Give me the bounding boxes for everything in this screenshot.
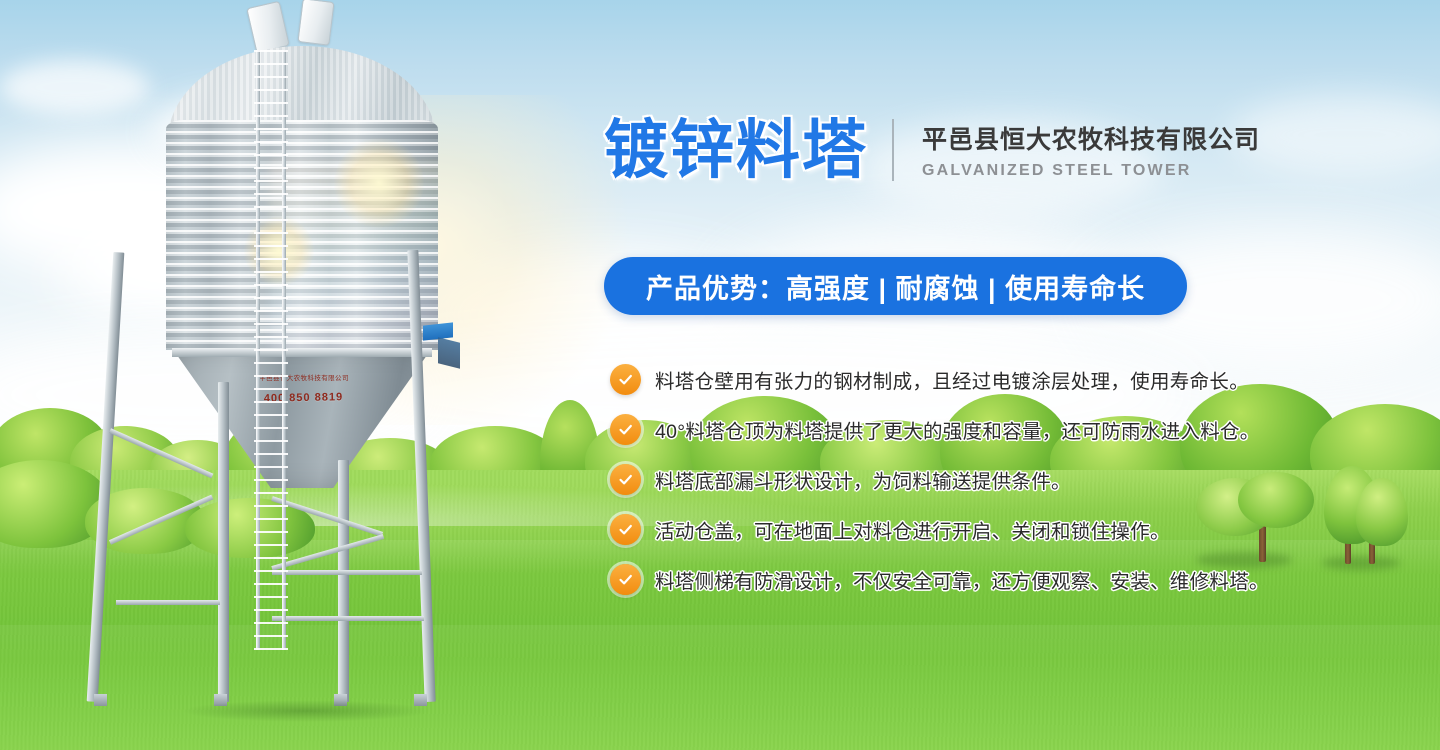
feature-item: 料塔仓壁用有张力的钢材制成，且经过电镀涂层处理，使用寿命长。 — [610, 358, 1269, 400]
check-circle-icon — [610, 364, 641, 395]
feature-item: 40°料塔仓顶为料塔提供了更大的强度和容量，还可防雨水进入料仓。 — [610, 408, 1269, 450]
headline-row: 镀锌料塔 平邑县恒大农牧科技有限公司 GALVANIZED STEEL TOWE… — [604, 118, 1260, 182]
feature-label: 料塔底部漏斗形状设计，为饲料输送提供条件。 — [655, 465, 1071, 494]
hero-content: 镀锌料塔 平邑县恒大农牧科技有限公司 GALVANIZED STEEL TOWE… — [0, 0, 1440, 750]
company-name-cn: 平邑县恒大农牧科技有限公司 — [922, 120, 1260, 156]
check-circle-icon — [610, 464, 641, 495]
company-block: 平邑县恒大农牧科技有限公司 GALVANIZED STEEL TOWER — [922, 120, 1260, 180]
feature-item: 料塔底部漏斗形状设计，为饲料输送提供条件。 — [610, 458, 1269, 500]
check-circle-icon — [610, 564, 641, 595]
feature-label: 料塔仓壁用有张力的钢材制成，且经过电镀涂层处理，使用寿命长。 — [655, 365, 1249, 394]
feature-label: 料塔侧梯有防滑设计，不仅安全可靠，还方便观察、安装、维修料塔。 — [655, 565, 1269, 594]
feature-item: 活动仓盖，可在地面上对料仓进行开启、关闭和锁住操作。 — [610, 508, 1269, 550]
feature-list: 料塔仓壁用有张力的钢材制成，且经过电镀涂层处理，使用寿命长。 40°料塔仓顶为料… — [610, 358, 1269, 608]
advantage-banner[interactable]: 产品优势：高强度 | 耐腐蚀 | 使用寿命长 — [604, 257, 1187, 315]
check-circle-icon — [610, 514, 641, 545]
advantage-banner-label: 产品优势：高强度 | 耐腐蚀 | 使用寿命长 — [646, 267, 1145, 306]
feature-label: 活动仓盖，可在地面上对料仓进行开启、关闭和锁住操作。 — [655, 515, 1170, 544]
page-title: 镀锌料塔 — [604, 118, 868, 182]
feature-label: 40°料塔仓顶为料塔提供了更大的强度和容量，还可防雨水进入料仓。 — [655, 415, 1260, 444]
company-name-en: GALVANIZED STEEL TOWER — [922, 162, 1260, 180]
headline-divider — [892, 119, 894, 181]
check-circle-icon — [610, 414, 641, 445]
feature-item: 料塔侧梯有防滑设计，不仅安全可靠，还方便观察、安装、维修料塔。 — [610, 558, 1269, 600]
